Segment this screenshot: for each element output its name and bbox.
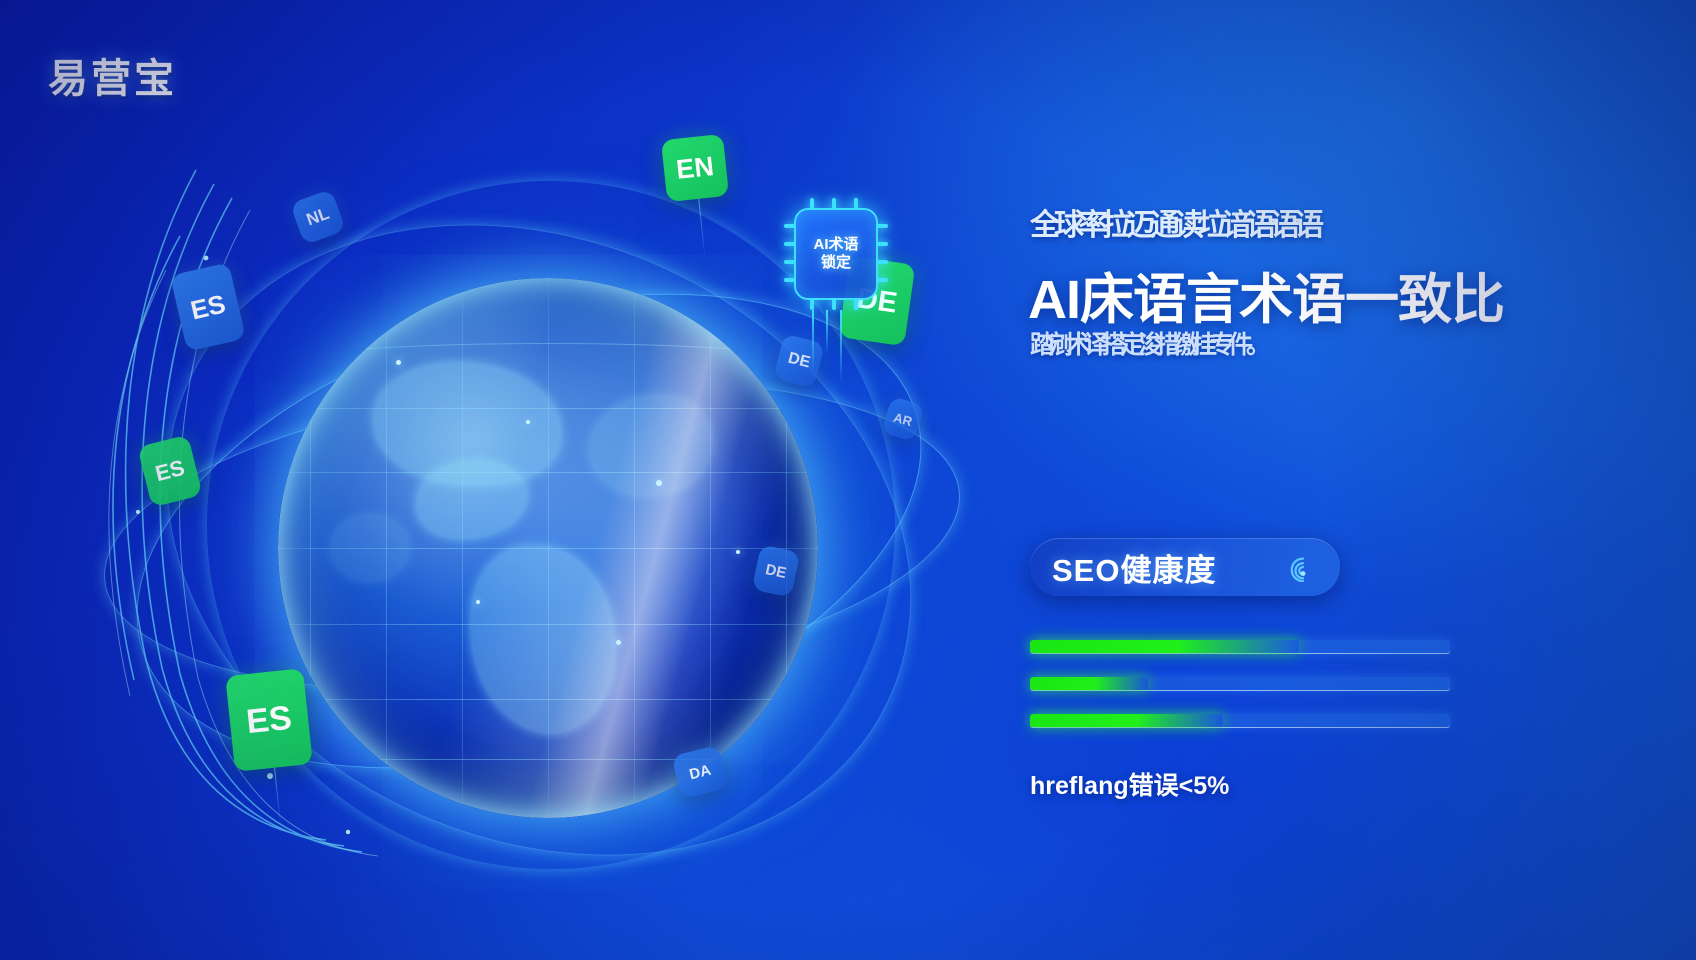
cpu-chip-icon: AI术语 锁定 bbox=[794, 208, 878, 300]
ai-chip-line-1: AI术语 bbox=[813, 237, 858, 254]
subtitle-text: 踏剜术译搭定浚措缴挂专件。 bbox=[1030, 325, 1460, 361]
progress-fill bbox=[1030, 640, 1299, 653]
chip-label: ES bbox=[188, 288, 229, 326]
network-node bbox=[616, 640, 621, 645]
chip-label: EN bbox=[675, 151, 716, 186]
network-node bbox=[736, 550, 740, 554]
ai-chip-line-2: 锁定 bbox=[821, 255, 851, 272]
right-content-column: 全球率拉迈通读垃谙语语语 AI床语言术语一致比 踏剜术译搭定浚措缴挂专件。 SE… bbox=[1022, 0, 1662, 960]
language-chip-en[interactable]: EN bbox=[661, 134, 729, 202]
progress-bar-2[interactable] bbox=[1030, 677, 1450, 690]
chip-label: DE bbox=[786, 350, 812, 373]
network-node bbox=[396, 360, 401, 365]
progress-fill bbox=[1030, 677, 1148, 690]
network-node bbox=[476, 600, 480, 604]
chip-label: ES bbox=[153, 455, 188, 487]
network-node bbox=[526, 420, 530, 424]
chip-label: DA bbox=[687, 761, 712, 783]
globe-illustration: EN NL ES ES ES DE DE AR DE DA AI bbox=[96, 120, 976, 860]
banner-canvas: 易营宝 bbox=[0, 0, 1696, 960]
progress-bar-1[interactable] bbox=[1030, 640, 1450, 653]
chip-label: AR bbox=[892, 409, 914, 429]
progress-fill bbox=[1030, 714, 1223, 727]
chip-label: ES bbox=[244, 698, 293, 742]
brand-logo: 易营宝 bbox=[48, 46, 177, 104]
page-title: AI床语言术语一致比 bbox=[1028, 255, 1504, 334]
chip-label: DE bbox=[764, 561, 788, 582]
progress-bar-3[interactable] bbox=[1030, 714, 1450, 727]
hreflang-footnote: hreflang错误<5% bbox=[1030, 766, 1229, 802]
ai-terminology-chip-badge[interactable]: AI术语 锁定 bbox=[784, 198, 888, 310]
wifi-signal-icon bbox=[1288, 552, 1318, 582]
chip-label: NL bbox=[304, 204, 332, 231]
eyebrow-text: 全球率拉迈通读垃谙语语语 bbox=[1030, 200, 1450, 242]
language-chip-es-3[interactable]: ES bbox=[225, 668, 313, 772]
seo-health-badge[interactable]: SEO健康度 bbox=[1030, 538, 1340, 596]
network-node bbox=[656, 480, 662, 486]
seo-health-label: SEO健康度 bbox=[1052, 545, 1216, 590]
seo-progress-bars bbox=[1030, 640, 1450, 751]
